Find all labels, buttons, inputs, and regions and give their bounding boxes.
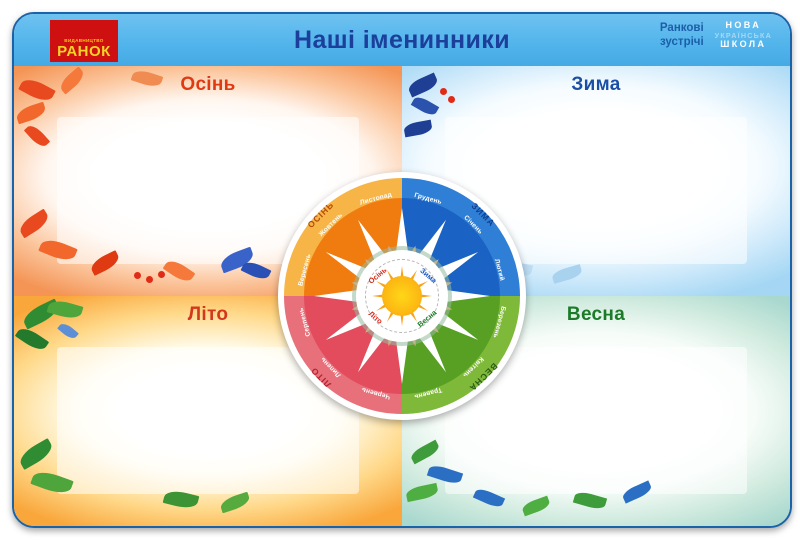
header-right-group: Ранкові зустрічі НОВА УКРАЇНСЬКА ШКОЛА [660, 21, 772, 50]
nush-line-1: НОВА [715, 21, 772, 31]
series-name: Ранкові зустрічі [660, 21, 704, 49]
wheel-hub[interactable]: Осінь Зима Літо Весна [356, 250, 448, 342]
header-bar: ВИДАВНИЦТВО РАНОК Наші іменинники Ранков… [14, 14, 790, 68]
seasons-wheel[interactable]: Грудень Січень Лютий Березень Квітень Тр… [278, 172, 526, 420]
quadrant-title-autumn: Осінь [14, 74, 402, 96]
nush-line-3: ШКОЛА [715, 40, 772, 50]
seasons-grid: Осінь Зима [14, 66, 790, 526]
series-line-1: Ранкові [660, 21, 704, 35]
poster: ВИДАВНИЦТВО РАНОК Наші іменинники Ранков… [12, 12, 792, 528]
quadrant-title-winter: Зима [402, 74, 790, 96]
series-line-2: зустрічі [660, 35, 704, 49]
nush-brand-logo: НОВА УКРАЇНСЬКА ШКОЛА [715, 21, 772, 50]
